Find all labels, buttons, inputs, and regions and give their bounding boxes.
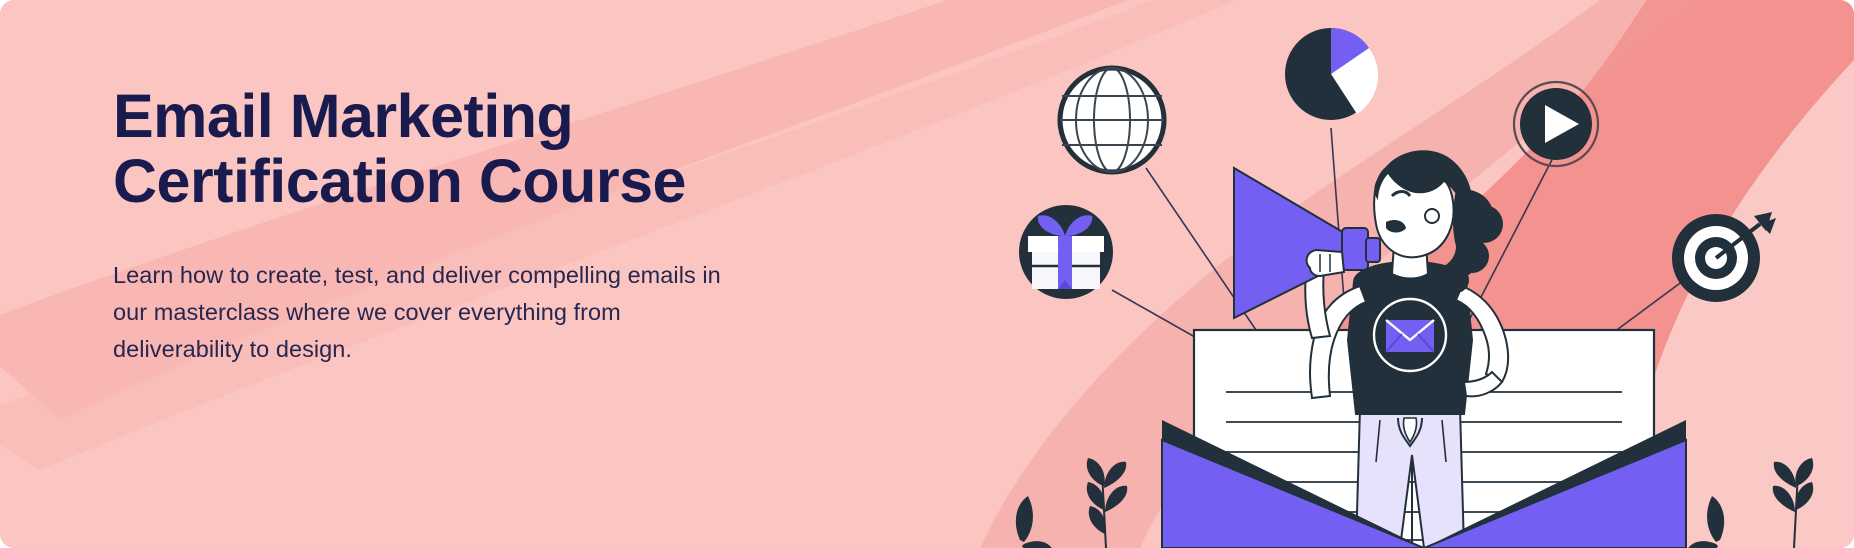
play-button-icon <box>1514 82 1598 166</box>
email-marketing-banner: Email Marketing Certification Course Lea… <box>0 0 1854 548</box>
character-hand-left <box>1307 250 1344 276</box>
pie-chart-icon <box>1285 28 1378 120</box>
target-icon <box>1672 212 1776 302</box>
gift-icon <box>1019 205 1113 299</box>
character-ear <box>1425 209 1439 223</box>
text-column: Email Marketing Certification Course Lea… <box>113 84 813 368</box>
email-marketing-illustration <box>994 0 1854 548</box>
headline-line-2: Certification Course <box>113 149 813 214</box>
illustration-svg <box>994 0 1854 548</box>
globe-icon <box>1060 68 1164 172</box>
page-subtitle: Learn how to create, test, and deliver c… <box>113 215 753 368</box>
subtitle-line-1: Learn how to create, test, and deliver c… <box>113 257 753 294</box>
subtitle-line-2: our masterclass where we cover everythin… <box>113 294 753 331</box>
headline-line-1: Email Marketing <box>113 82 573 150</box>
subtitle-line-3: deliverability to design. <box>113 331 753 368</box>
page-title: Email Marketing Certification Course <box>113 84 813 215</box>
